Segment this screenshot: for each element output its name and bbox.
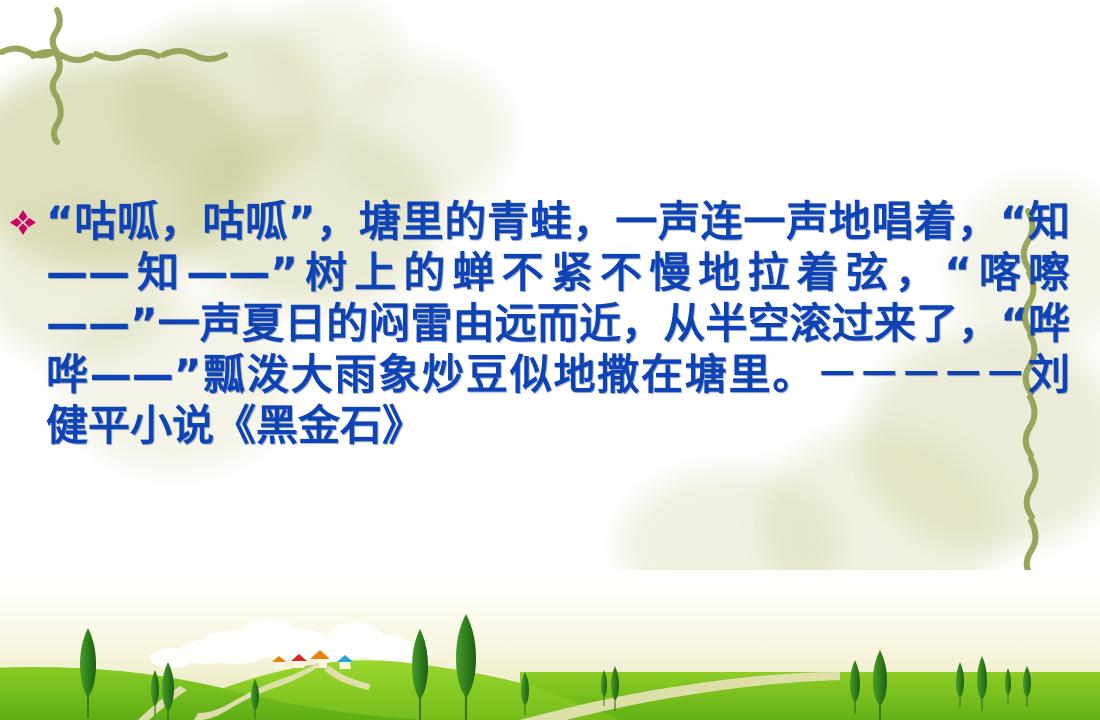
landscape-illustration bbox=[0, 570, 1100, 720]
bullet-marker bbox=[0, 196, 46, 238]
landscape-svg bbox=[0, 570, 1100, 720]
slide-canvas: “咕呱，咕呱”，塘里的青蛙，一声连一声地唱着，“知——知——”树上的蝉不紧不慢地… bbox=[0, 0, 1100, 720]
foliage-blob bbox=[255, 0, 405, 120]
four-diamond-bullet-icon bbox=[8, 208, 38, 238]
foliage-blob bbox=[120, 20, 330, 190]
foliage-blob bbox=[330, 60, 510, 210]
cloud-group bbox=[150, 618, 432, 668]
body-text-block: “咕呱，咕呱”，塘里的青蛙，一声连一声地唱着，“知——知——”树上的蝉不紧不慢地… bbox=[0, 196, 1070, 451]
quotation-text: “咕呱，咕呱”，塘里的青蛙，一声连一声地唱着，“知——知——”树上的蝉不紧不慢地… bbox=[46, 196, 1070, 451]
vine-cross-icon bbox=[0, 0, 230, 150]
